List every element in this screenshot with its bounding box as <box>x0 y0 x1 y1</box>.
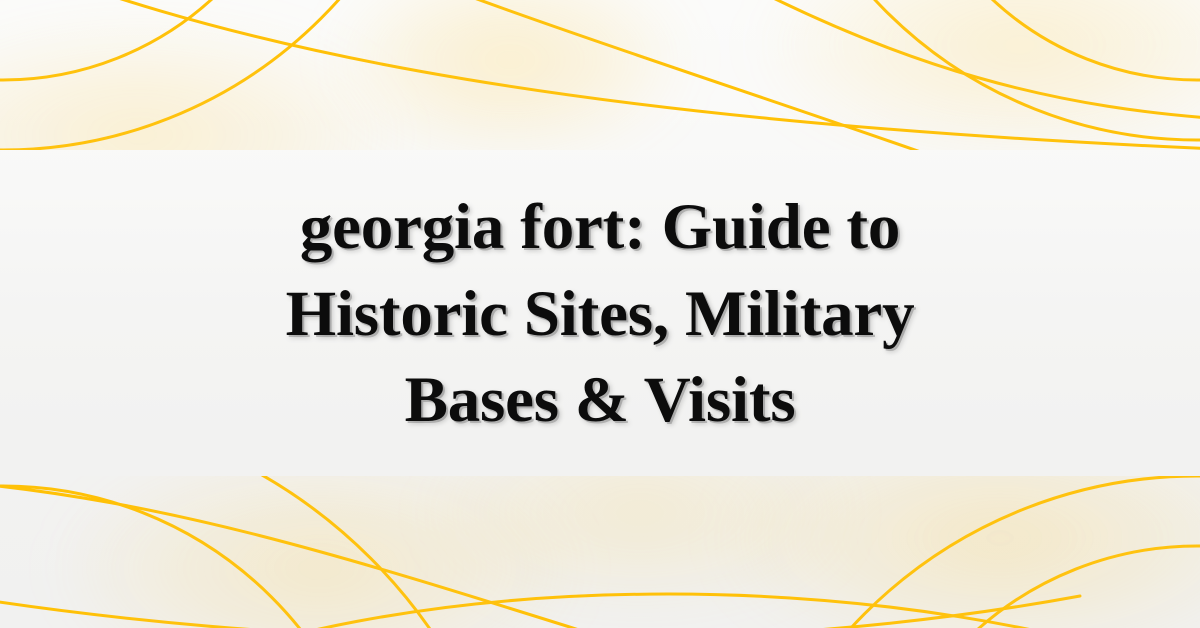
title-container: georgia fort: Guide to Historic Sites, M… <box>0 0 1200 628</box>
og-image-card: georgia fort: Guide to Historic Sites, M… <box>0 0 1200 628</box>
page-title: georgia fort: Guide to Historic Sites, M… <box>220 184 980 443</box>
